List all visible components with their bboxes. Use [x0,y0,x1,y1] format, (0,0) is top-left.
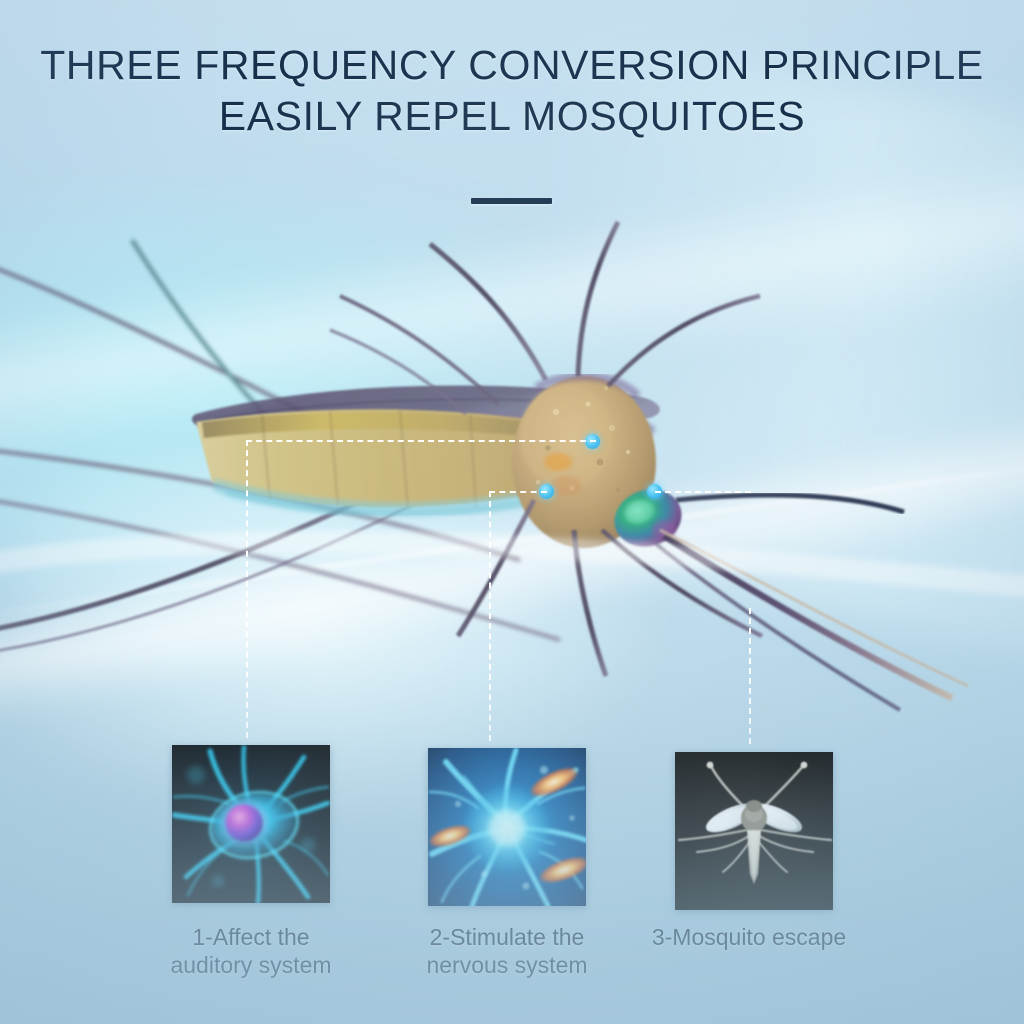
title-divider [471,198,552,204]
background-lower-haze [0,655,1024,1024]
mosquito-hero-image [0,200,1024,720]
poster-canvas: THREE FREQUENCY CONVERSION PRINCIPLE EAS… [0,0,1024,1024]
page-title: THREE FREQUENCY CONVERSION PRINCIPLE EAS… [0,42,1024,139]
headline-line-1: THREE FREQUENCY CONVERSION PRINCIPLE [0,42,1024,88]
leader-horizontal-nervous [489,491,547,493]
headline-line-2: EASILY REPEL MOSQUITOES [0,93,1024,139]
leader-horizontal-auditory [246,440,596,442]
leader-horizontal-escape [655,491,751,493]
